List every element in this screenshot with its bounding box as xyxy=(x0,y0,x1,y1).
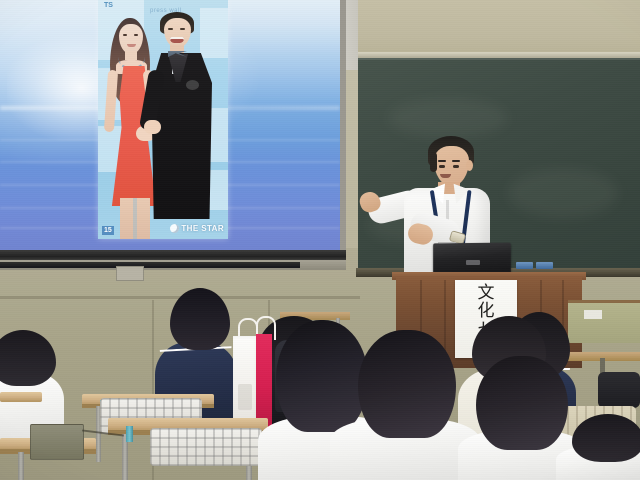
shopping-bag-accent xyxy=(256,334,272,430)
student-hair xyxy=(170,288,230,350)
classroom-photo: press wall TS xyxy=(0,0,640,480)
slide-woman-leg-gap xyxy=(133,198,137,239)
presenter-eye xyxy=(453,165,459,168)
slide-watermark: THE STAR xyxy=(170,224,224,233)
student-hair xyxy=(358,330,456,438)
podium-sign-char-1: 文 xyxy=(478,284,495,302)
slide-man-face xyxy=(164,18,191,48)
slide-photo: press wall TS xyxy=(98,0,228,239)
projection-screen: press wall TS xyxy=(0,0,340,252)
presenter-eye xyxy=(439,165,445,168)
slide-corner-tag: TS xyxy=(104,2,113,9)
slide-man-pocket-square xyxy=(186,80,199,90)
cabinet-label xyxy=(584,310,602,319)
chalk-smudge xyxy=(508,168,618,218)
laptop-logo-icon xyxy=(466,260,480,265)
screen-mounting-rail xyxy=(0,262,300,268)
upper-wall-right xyxy=(355,0,640,60)
wall-speaker-box xyxy=(30,424,84,460)
slide-woman-eye xyxy=(134,34,138,36)
slide-man-eye xyxy=(168,28,173,30)
laptop-screen xyxy=(433,243,511,276)
student-hair xyxy=(572,414,640,462)
chair-back xyxy=(150,428,262,466)
presenter-eyebrow xyxy=(452,160,460,162)
desk-leg-bracket xyxy=(126,426,133,442)
shopping-bag-print xyxy=(238,384,252,410)
slide-man-mouth xyxy=(170,37,184,43)
desk xyxy=(0,392,42,402)
presenter-eyebrow xyxy=(438,160,446,162)
presenter-sideburn xyxy=(430,152,437,172)
podium-sign-char-2: 化 xyxy=(478,302,495,320)
star-dot-icon xyxy=(170,224,179,233)
presenter-ear xyxy=(466,160,473,171)
slide-year-badge: 15 xyxy=(102,226,114,235)
backdrop-tile xyxy=(200,8,228,58)
chalk-smudge xyxy=(388,98,508,138)
student-hair xyxy=(476,356,568,450)
right-chair xyxy=(598,372,640,408)
slide-woman-eye xyxy=(123,34,127,36)
chalk-eraser-icon xyxy=(536,262,553,269)
student-hair xyxy=(276,320,368,432)
slide-man-hand xyxy=(144,120,161,134)
desk-leg xyxy=(18,452,24,480)
watermark-text: THE STAR xyxy=(181,224,224,233)
rail-bracket xyxy=(116,266,144,281)
slide-man-eye xyxy=(180,28,185,30)
chalk-eraser-icon xyxy=(516,262,533,269)
right-cabinet xyxy=(568,300,640,343)
